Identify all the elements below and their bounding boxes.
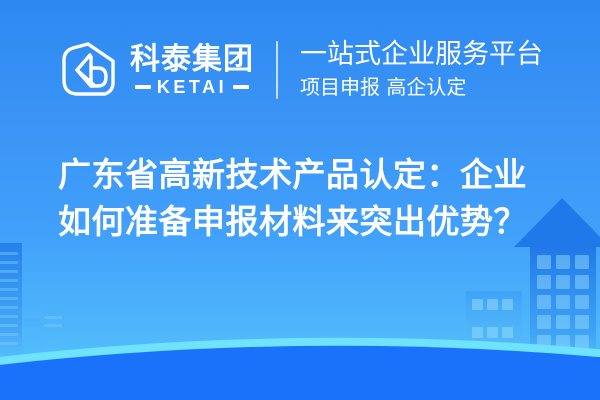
brand-logo: 科泰集团 KETAI <box>58 39 254 101</box>
brand-name-cn: 科泰集团 <box>130 44 254 76</box>
dash-right-icon <box>233 85 249 89</box>
brand-wordmark: 科泰集团 KETAI <box>130 44 254 97</box>
tagline-primary: 一站式企业服务平台 <box>300 40 543 70</box>
brand-name-en: KETAI <box>157 78 227 96</box>
promo-banner: 科泰集团 KETAI 一站式企业服务平台 项目申报 高企认定 广东省高新技术产品… <box>0 0 600 400</box>
brand-name-en-row: KETAI <box>135 78 249 96</box>
striped-tower-silhouette <box>0 243 22 363</box>
low-rise-buildings-silhouette <box>24 310 64 364</box>
curved-ground-band <box>0 338 600 400</box>
tagline-secondary: 项目申报 高企认定 <box>300 74 543 100</box>
headline-title: 广东省高新技术产品认定：企业如何准备申报材料来突出优势？ <box>58 152 550 246</box>
header-divider <box>276 41 278 99</box>
dash-left-icon <box>135 85 151 89</box>
ketai-monogram-logo-icon <box>58 39 120 101</box>
banner-header: 科泰集团 KETAI 一站式企业服务平台 项目申报 高企认定 <box>0 0 600 140</box>
tagline-block: 一站式企业服务平台 项目申报 高企认定 <box>300 40 543 99</box>
mid-rise-building-silhouette <box>466 291 522 367</box>
